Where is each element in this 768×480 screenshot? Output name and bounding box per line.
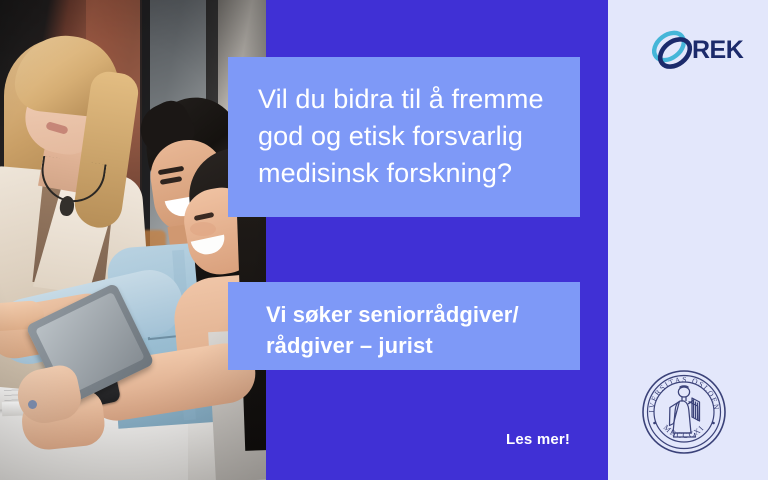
- university-of-oslo-seal-icon: UNIVERSITAS OSLOENSIS MDCCCXI: [638, 366, 730, 458]
- headline-box: Vil du bidra til å fremme god og etisk f…: [228, 57, 580, 217]
- recruitment-banner: REK UNIVERSITAS OSLOENSIS MDCCCXI: [0, 0, 768, 480]
- uio-seal: UNIVERSITAS OSLOENSIS MDCCCXI: [638, 366, 730, 458]
- headline-line: medisinsk forskning?: [258, 155, 554, 192]
- headline-line: Vil du bidra til å fremme: [258, 81, 554, 118]
- team-photo: [0, 0, 266, 480]
- rek-logo: REK: [648, 28, 740, 74]
- subheadline-line: rådgiver – jurist: [266, 330, 562, 361]
- photo-vignette: [0, 0, 266, 480]
- read-more-link[interactable]: Les mer!: [506, 431, 570, 448]
- subheadline-line: Vi søker seniorrådgiver/: [266, 299, 562, 330]
- subheadline-box: Vi søker seniorrådgiver/ rådgiver – juri…: [228, 282, 580, 370]
- headline-line: god og etisk forsvarlig: [258, 118, 554, 155]
- rek-wordmark: REK: [692, 36, 743, 65]
